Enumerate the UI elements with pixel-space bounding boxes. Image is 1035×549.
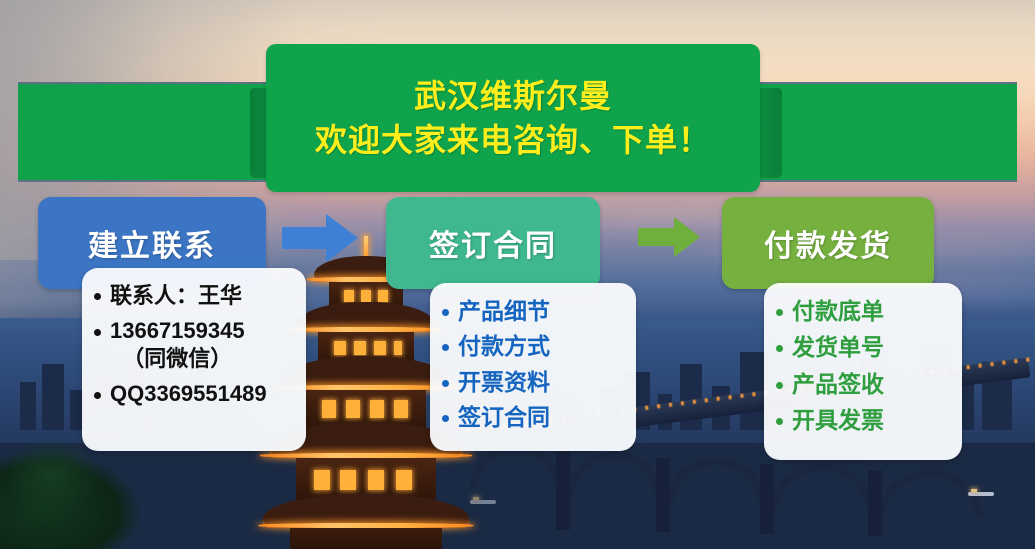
arrow-right-icon — [282, 213, 358, 263]
bullet-icon — [442, 415, 449, 422]
list-item: 付款方式 — [442, 332, 624, 361]
list-item-label: 付款底单 — [792, 297, 884, 326]
tower-window — [334, 341, 346, 355]
list-item-label: 联系人：王华 — [110, 282, 242, 310]
list-item: 联系人：王华 — [94, 282, 294, 310]
list-item-label: 产品签收 — [792, 370, 884, 399]
list-item-label: 开票资料 — [458, 368, 550, 397]
bullet-icon — [442, 344, 449, 351]
list-item-label: QQ3369551489 — [110, 380, 267, 408]
bullet-icon — [94, 329, 101, 336]
list-item-label: 付款方式 — [458, 332, 550, 361]
list-item-label: 签订合同 — [458, 403, 550, 432]
stage-item-list: 产品细节 付款方式 开票资料 签订合同 — [442, 297, 624, 433]
tower-window — [344, 290, 354, 302]
bullet-icon — [442, 309, 449, 316]
tower-spire — [364, 236, 368, 258]
tower-window — [396, 470, 412, 490]
arrow-contract-to-payment — [638, 216, 700, 258]
bullet-icon — [442, 380, 449, 387]
stage-header-sign-contract[interactable]: 签订合同 — [386, 197, 600, 289]
tower-window — [314, 470, 330, 490]
list-item: 产品签收 — [776, 370, 950, 399]
bridge-arch — [470, 445, 562, 489]
banner-title-line2: 欢迎大家来电咨询、下单！ — [315, 118, 711, 162]
bullet-icon — [94, 392, 101, 399]
list-item: 产品细节 — [442, 297, 624, 326]
stage-item-list: 付款底单 发货单号 产品签收 开具发票 — [776, 297, 950, 436]
list-item: 13667159345 （同微信） — [94, 317, 294, 373]
bridge-arch — [878, 470, 982, 516]
list-item: 开具发票 — [776, 406, 950, 435]
bridge-pier — [868, 470, 882, 536]
list-item-label: 13667159345 — [110, 318, 245, 343]
tower-window — [340, 470, 356, 490]
bullet-icon — [776, 345, 783, 352]
list-item: QQ3369551489 — [94, 380, 294, 408]
bridge-arch — [770, 464, 874, 512]
building — [42, 364, 64, 430]
stage-item-list: 联系人：王华 13667159345 （同微信） QQ3369551489 — [94, 282, 294, 409]
bullet-icon — [776, 382, 783, 389]
tower-window — [394, 341, 402, 355]
bullet-icon — [94, 293, 101, 300]
banner-title-line1: 武汉维斯尔曼 — [414, 74, 612, 118]
tower-window — [394, 400, 408, 418]
bullet-icon — [776, 418, 783, 425]
banner-title-block: 武汉维斯尔曼 欢迎大家来电咨询、下单！ — [266, 44, 760, 192]
stage-title: 付款发货 — [764, 221, 892, 265]
list-item-label: 发货单号 — [792, 333, 884, 362]
tower-window — [378, 290, 388, 302]
boat — [470, 500, 496, 504]
list-item: 发货单号 — [776, 333, 950, 362]
tower-window — [346, 400, 360, 418]
list-item-label: 产品细节 — [458, 297, 550, 326]
list-item-label: 开具发票 — [792, 406, 884, 435]
bullet-icon — [776, 309, 783, 316]
list-item-text: 13667159345 （同微信） — [110, 317, 245, 373]
tower-window — [322, 400, 336, 418]
arrow-contact-to-contract — [282, 213, 358, 263]
stage-card-sign-contract: 产品细节 付款方式 开票资料 签订合同 — [430, 283, 636, 451]
tower-window — [370, 400, 384, 418]
stage-title: 签订合同 — [429, 221, 557, 265]
foreground-tree — [10, 438, 102, 516]
header-ribbon-banner: 武汉维斯尔曼 欢迎大家来电咨询、下单！ — [0, 36, 1035, 188]
bridge-pier — [556, 452, 570, 530]
list-item: 开票资料 — [442, 368, 624, 397]
tower-window — [361, 290, 371, 302]
stage-card-establish-contact: 联系人：王华 13667159345 （同微信） QQ3369551489 — [82, 268, 306, 451]
list-item-sublabel: （同微信） — [110, 345, 245, 373]
bridge-pier — [656, 458, 670, 532]
list-item: 付款底单 — [776, 297, 950, 326]
bridge-arch — [666, 458, 766, 506]
building — [20, 382, 36, 430]
list-item: 签订合同 — [442, 403, 624, 432]
boat — [968, 492, 994, 496]
tower-window — [368, 470, 384, 490]
stage-header-payment-shipping[interactable]: 付款发货 — [722, 197, 934, 289]
tower-base — [290, 528, 442, 549]
stage-title: 建立联系 — [88, 221, 216, 265]
tower-window — [354, 341, 366, 355]
tower-window — [374, 341, 386, 355]
arrow-right-icon — [638, 216, 700, 258]
bridge-arch — [566, 452, 662, 498]
stage-card-payment-shipping: 付款底单 发货单号 产品签收 开具发票 — [764, 283, 962, 460]
bridge-pier — [760, 464, 774, 534]
